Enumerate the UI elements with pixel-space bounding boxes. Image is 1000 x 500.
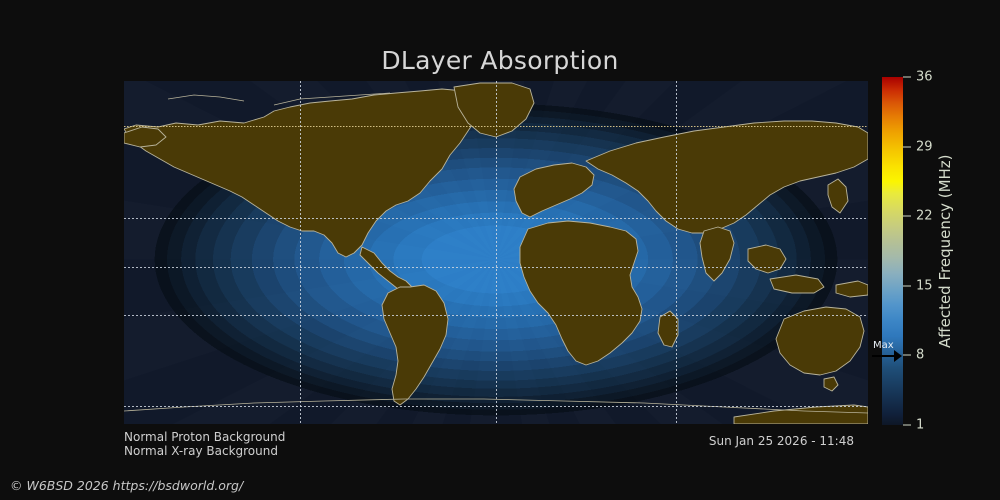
timestamp: Sun Jan 25 2026 - 11:48 [709, 434, 854, 448]
colorbar-axis-title: Affected Frequency (MHz) [932, 77, 958, 425]
colorbar-tick-dash [903, 77, 911, 78]
gridline-horizontal [124, 267, 868, 268]
gridline-vertical [496, 81, 497, 424]
max-marker-label: Max [873, 341, 894, 351]
max-marker-arrow-head [894, 350, 902, 362]
max-value-marker: Max [872, 342, 900, 364]
colorbar-tick: 36 [903, 71, 933, 84]
proton-background-note: Normal Proton Background [124, 430, 285, 444]
colorbar-tick-label: 22 [916, 210, 933, 223]
colorbar-tick-dash [903, 355, 911, 356]
page-title: DLayer Absorption [0, 46, 1000, 75]
gridline-horizontal [124, 406, 868, 407]
colorbar-tick: 22 [903, 210, 933, 223]
colorbar-tick-dash [903, 216, 911, 217]
gridline-arctic-circle [124, 126, 868, 127]
colorbar-gradient [882, 77, 903, 425]
world-map[interactable] [124, 81, 868, 424]
gridline-horizontal [124, 315, 868, 316]
colorbar-tick-label: 8 [916, 349, 924, 362]
gridline-vertical [676, 81, 677, 424]
gridline-vertical [300, 81, 301, 424]
colorbar-tick-dash [903, 425, 911, 426]
max-marker-arrow-line [872, 355, 896, 357]
colorbar-tick-dash [903, 146, 911, 147]
colorbar-tick: 15 [903, 279, 933, 292]
dlayer-absorption-screen: DLayer Absorption [0, 0, 1000, 500]
colorbar-tick-label: 36 [916, 71, 933, 84]
colorbar-tick-label: 29 [916, 140, 933, 153]
colorbar-tick: 1 [903, 419, 924, 432]
colorbar-tick: 8 [903, 349, 924, 362]
colorbar-tick-label: 15 [916, 279, 933, 292]
colorbar[interactable] [882, 77, 903, 425]
gridline-horizontal [124, 218, 868, 219]
colorbar-tick-label: 1 [916, 419, 924, 432]
copyright-footer: © W6BSD 2026 https://bsdworld.org/ [10, 478, 243, 493]
colorbar-tick: 29 [903, 140, 933, 153]
xray-background-note: Normal X-ray Background [124, 444, 278, 458]
colorbar-tick-dash [903, 285, 911, 286]
